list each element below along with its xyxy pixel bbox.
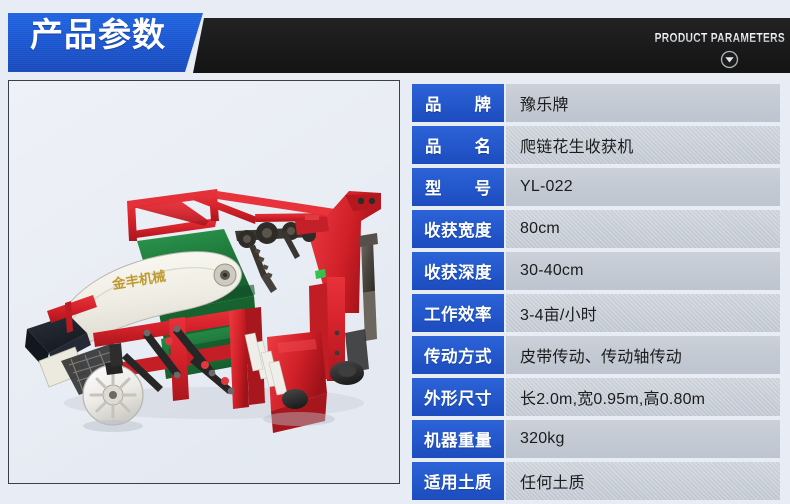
product-photo: 金丰机械 [9,81,399,483]
spec-value: 3-4亩/小时 [506,294,780,332]
spec-value: 320kg [506,420,780,458]
table-row: 工作效率 3-4亩/小时 [412,294,780,332]
spec-label: 外形尺寸 [412,378,504,416]
page-header: 产品参数 PRODUCT PARAMETERS [0,0,790,78]
spec-value: 豫乐牌 [506,84,780,122]
spec-label: 型 号 [412,168,504,206]
spec-label-char-b: 名 [475,133,492,157]
table-row: 型 号 YL-022 [412,168,780,206]
table-row: 机器重量 320kg [412,420,780,458]
spec-value: 任何土质 [506,462,780,500]
table-row: 品 牌 豫乐牌 [412,84,780,122]
table-row: 外形尺寸 长2.0m,宽0.95m,高0.80m [412,378,780,416]
spec-value: 80cm [506,210,780,248]
page-title-english: PRODUCT PARAMETERS [655,31,785,45]
spec-value: 爬链花生收获机 [506,126,780,164]
spec-label: 品 牌 [412,84,504,122]
spec-label: 收获宽度 [412,210,504,248]
spec-label-char-b: 号 [475,175,492,199]
table-row: 收获宽度 80cm [412,210,780,248]
spec-label-char-b: 牌 [475,91,492,115]
spec-label: 收获深度 [412,252,504,290]
page-title: 产品参数 [30,18,166,51]
spec-value: YL-022 [506,168,780,206]
table-row: 传动方式 皮带传动、传动轴传动 [412,336,780,374]
spec-value: 30-40cm [506,252,780,290]
spec-label: 品 名 [412,126,504,164]
product-spec-table: 品 牌 豫乐牌 品 名 爬链花生收获机 型 号 YL-022 收获宽度 80cm… [412,84,780,504]
product-image-panel[interactable]: 金丰机械 [8,80,400,484]
spec-label-char-a: 品 [425,133,442,157]
spec-label-char-a: 型 [425,175,442,199]
spec-value: 皮带传动、传动轴传动 [506,336,780,374]
table-row: 收获深度 30-40cm [412,252,780,290]
spec-label: 机器重量 [412,420,504,458]
table-row: 适用土质 任何土质 [412,462,780,500]
table-row: 品 名 爬链花生收获机 [412,126,780,164]
spec-value: 长2.0m,宽0.95m,高0.80m [506,378,780,416]
spec-label: 适用土质 [412,462,504,500]
spec-label: 传动方式 [412,336,504,374]
spec-label: 工作效率 [412,294,504,332]
spec-label-char-a: 品 [425,91,442,115]
header-black-bar [193,18,790,73]
chevron-down-circle-icon[interactable] [720,50,739,69]
